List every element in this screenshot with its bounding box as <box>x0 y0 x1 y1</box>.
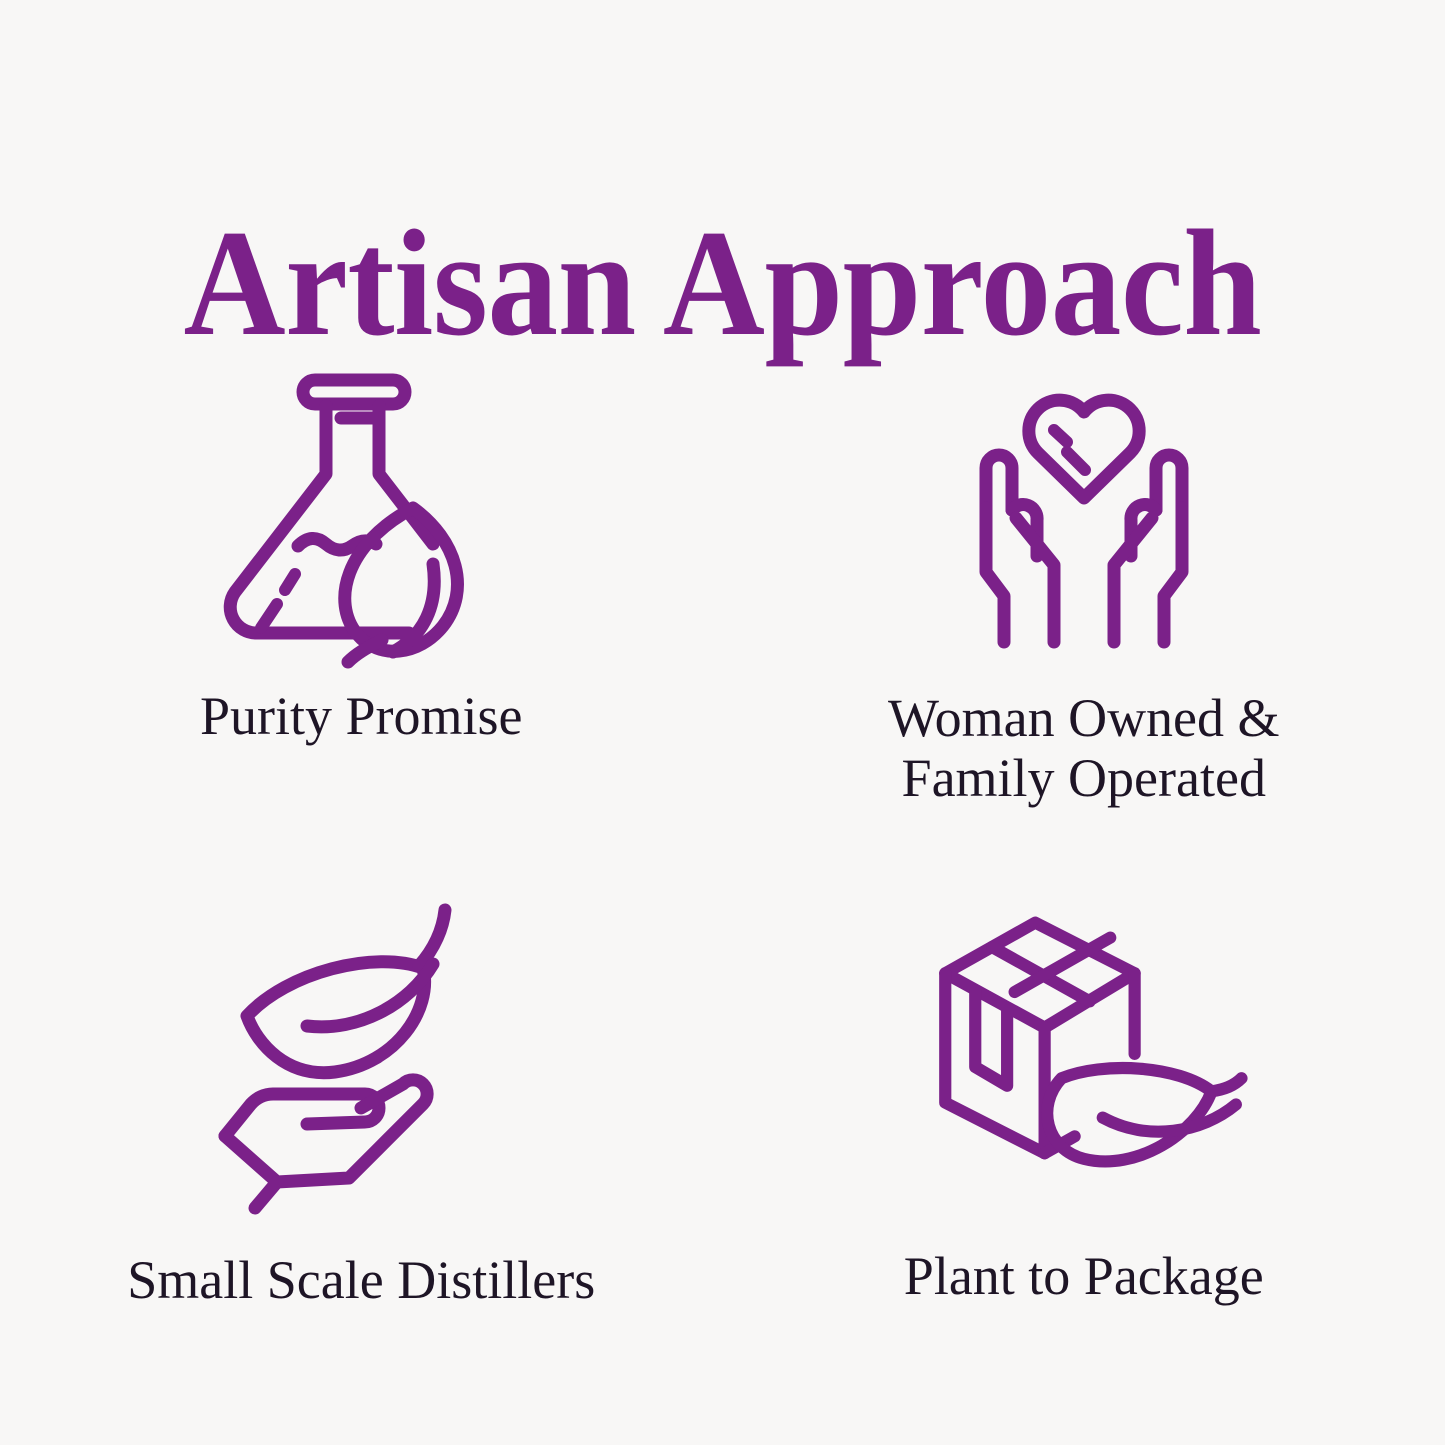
feature-label: Purity Promise <box>200 686 523 746</box>
feature-item-woman-owned: Woman Owned & Family Operated <box>723 330 1445 860</box>
package-box-leaf-icon <box>934 902 1234 1202</box>
feature-item-plant-to-package: Plant to Package <box>723 860 1445 1390</box>
feature-item-purity-promise: Purity Promise <box>0 330 723 860</box>
artisan-approach-graphic: Artisan Approach <box>0 0 1445 1445</box>
flask-leaf-icon <box>211 356 511 656</box>
hands-holding-heart-icon <box>934 360 1234 660</box>
feature-label: Small Scale Distillers <box>127 1250 595 1310</box>
feature-item-small-scale-distillers: Small Scale Distillers <box>0 860 723 1390</box>
feature-label: Plant to Package <box>904 1246 1264 1306</box>
feature-grid: Purity Promise <box>0 330 1445 1390</box>
hand-holding-leaf-icon <box>211 912 511 1212</box>
feature-label: Woman Owned & Family Operated <box>888 688 1280 809</box>
